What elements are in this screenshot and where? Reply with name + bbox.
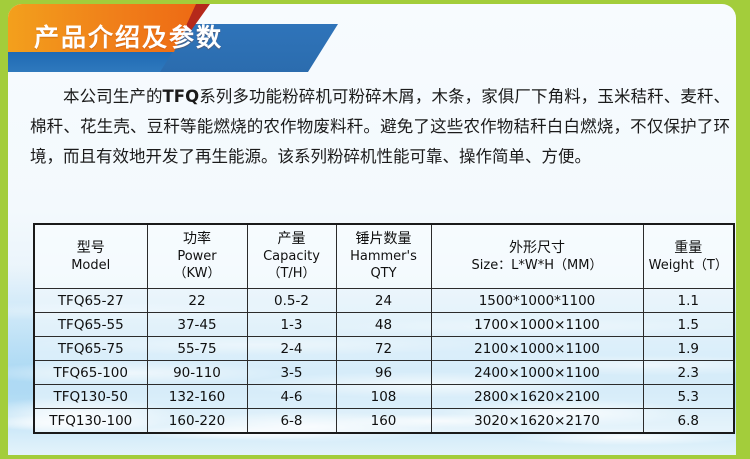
- cell-size: 1500*1000*1100: [431, 289, 643, 313]
- cell-weight: 1.1: [643, 289, 734, 313]
- cell-size: 2400×1000×1100: [431, 361, 643, 385]
- header-cn-model: 型号: [37, 240, 145, 257]
- spec-table: 型号 Model 功率 Power （KW） 产量 Capacity （T/H）: [33, 223, 735, 434]
- cell-model: TFQ130-100: [34, 409, 147, 434]
- cell-model: TFQ65-27: [34, 289, 147, 313]
- header-cn-power: 功率: [150, 231, 245, 248]
- cell-weight: 6.8: [643, 409, 734, 434]
- cell-model: TFQ130-50: [34, 385, 147, 409]
- cell-model: TFQ65-100: [34, 361, 147, 385]
- cell-hammer-qty: 96: [336, 361, 431, 385]
- banner-title: 产品介绍及参数: [34, 18, 223, 54]
- cell-size: 2100×1000×1100: [431, 337, 643, 361]
- header-cn-size: 外形尺寸: [434, 240, 641, 257]
- header-cell-size: 外形尺寸 Size：L*W*H（MM）: [431, 224, 643, 289]
- cell-model: TFQ65-75: [34, 337, 147, 361]
- header-cell-capacity: 产量 Capacity （T/H）: [247, 224, 336, 289]
- spec-table-body: TFQ65-27220.5-2241500*1000*11001.1TFQ65-…: [34, 289, 734, 434]
- header-cell-power: 功率 Power （KW）: [147, 224, 247, 289]
- cell-hammer-qty: 48: [336, 313, 431, 337]
- header-en-size: Size：L*W*H（MM）: [434, 257, 641, 274]
- header-unit-hammer: QTY: [339, 265, 429, 282]
- header-en-model: Model: [37, 257, 145, 274]
- cell-power: 22: [147, 289, 247, 313]
- cell-power: 132-160: [147, 385, 247, 409]
- header-en-capacity: Capacity: [250, 248, 334, 265]
- header-cell-weight: 重量 Weight（T）: [643, 224, 734, 289]
- table-row: TFQ130-100160-2206-81603020×1620×21706.8: [34, 409, 734, 434]
- cell-hammer-qty: 24: [336, 289, 431, 313]
- header-cell-hammer: 锤片数量 Hammer's QTY: [336, 224, 431, 289]
- table-row: TFQ65-27220.5-2241500*1000*11001.1: [34, 289, 734, 313]
- cell-capacity: 0.5-2: [247, 289, 336, 313]
- cell-size: 1700×1000×1100: [431, 313, 643, 337]
- cell-weight: 5.3: [643, 385, 734, 409]
- header-en-weight: Weight（T）: [646, 257, 732, 274]
- cell-power: 160-220: [147, 409, 247, 434]
- cell-weight: 2.3: [643, 361, 734, 385]
- cell-weight: 1.5: [643, 313, 734, 337]
- cell-power: 55-75: [147, 337, 247, 361]
- cell-capacity: 3-5: [247, 361, 336, 385]
- header-unit-capacity: （T/H）: [250, 265, 334, 282]
- section-banner: 产品介绍及参数: [8, 4, 428, 76]
- product-spec-page: 产品介绍及参数 本公司生产的TFQ系列多功能粉碎机可粉碎木屑，木条，家俱厂下角料…: [0, 0, 750, 459]
- content-sheet: 产品介绍及参数 本公司生产的TFQ系列多功能粉碎机可粉碎木屑，木条，家俱厂下角料…: [8, 4, 736, 455]
- intro-paragraph-text: 本公司生产的TFQ系列多功能粉碎机可粉碎木屑，木条，家俱厂下角料，玉米秸秆、麦秆…: [30, 87, 730, 166]
- table-row: TFQ65-7555-752-4722100×1000×11001.9: [34, 337, 734, 361]
- header-en-power: Power: [150, 248, 245, 265]
- cell-capacity: 4-6: [247, 385, 336, 409]
- cell-capacity: 6-8: [247, 409, 336, 434]
- intro-paragraph: 本公司生产的TFQ系列多功能粉碎机可粉碎木屑，木条，家俱厂下角料，玉米秸秆、麦秆…: [30, 82, 730, 172]
- header-cn-weight: 重量: [646, 240, 732, 257]
- cell-hammer-qty: 108: [336, 385, 431, 409]
- cell-hammer-qty: 72: [336, 337, 431, 361]
- header-cn-capacity: 产量: [250, 231, 334, 248]
- cell-weight: 1.9: [643, 337, 734, 361]
- cell-power: 37-45: [147, 313, 247, 337]
- header-unit-power: （KW）: [150, 265, 245, 282]
- cell-model: TFQ65-55: [34, 313, 147, 337]
- cell-size: 2800×1620×2100: [431, 385, 643, 409]
- header-en-hammer: Hammer's: [339, 248, 429, 265]
- cell-capacity: 1-3: [247, 313, 336, 337]
- cell-power: 90-110: [147, 361, 247, 385]
- cell-capacity: 2-4: [247, 337, 336, 361]
- cell-size: 3020×1620×2170: [431, 409, 643, 434]
- header-cn-hammer: 锤片数量: [339, 231, 429, 248]
- header-cell-model: 型号 Model: [34, 224, 147, 289]
- spec-table-header-row: 型号 Model 功率 Power （KW） 产量 Capacity （T/H）: [34, 224, 734, 289]
- spec-table-wrapper: 型号 Model 功率 Power （KW） 产量 Capacity （T/H）: [33, 223, 733, 434]
- cell-hammer-qty: 160: [336, 409, 431, 434]
- spec-table-head: 型号 Model 功率 Power （KW） 产量 Capacity （T/H）: [34, 224, 734, 289]
- table-row: TFQ65-5537-451-3481700×1000×11001.5: [34, 313, 734, 337]
- table-row: TFQ130-50132-1604-61082800×1620×21005.3: [34, 385, 734, 409]
- table-row: TFQ65-10090-1103-5962400×1000×11002.3: [34, 361, 734, 385]
